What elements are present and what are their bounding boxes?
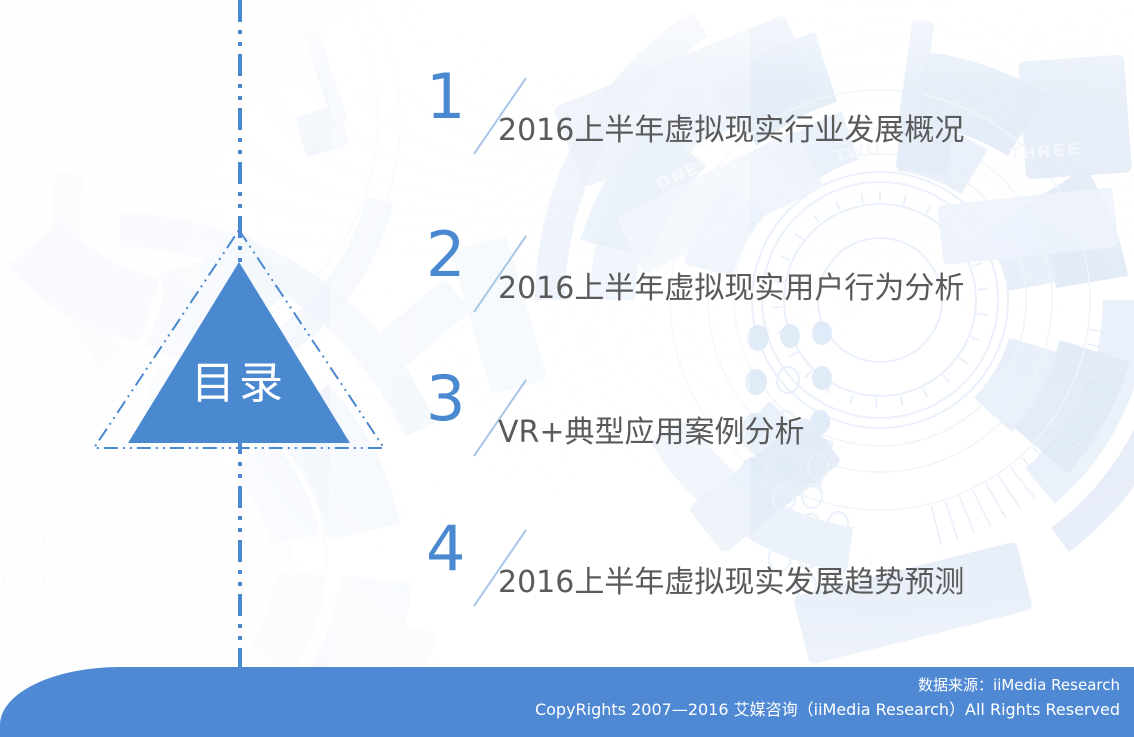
agenda-item-label: 2016上半年虚拟现实发展趋势预测: [498, 564, 964, 602]
agenda-item-number: 2: [426, 224, 465, 286]
agenda-item-number: 3: [426, 368, 465, 430]
triangle-fill: [128, 262, 350, 443]
footer-copyright: CopyRights 2007—2016 艾媒咨询（iiMedia Resear…: [535, 699, 1120, 721]
agenda-triangle-block: 目录: [88, 222, 390, 452]
agenda-item-number: 1: [426, 66, 465, 128]
footer-data-source: 数据来源：iiMedia Research: [918, 675, 1120, 695]
agenda-item-label: 2016上半年虚拟现实行业发展概况: [498, 112, 964, 150]
presentation-slide: ONE TWO THREE FOUR: [0, 0, 1134, 737]
agenda-item-label: 2016上半年虚拟现实用户行为分析: [498, 270, 964, 308]
agenda-item[interactable]: 3 VR+典型应用案例分析: [420, 368, 1120, 488]
agenda-item[interactable]: 1 2016上半年虚拟现实行业发展概况: [420, 66, 1120, 186]
agenda-item-label: VR+典型应用案例分析: [498, 414, 805, 452]
agenda-list: 1 2016上半年虚拟现实行业发展概况 2 2016上半年虚拟现实用户行为分析 …: [420, 66, 1120, 646]
triangle-graphic: [88, 222, 390, 452]
agenda-item-number: 4: [426, 518, 465, 580]
agenda-item[interactable]: 4 2016上半年虚拟现实发展趋势预测: [420, 518, 1120, 638]
agenda-triangle-label: 目录: [88, 362, 390, 406]
footer-bar: 数据来源：iiMedia Research CopyRights 2007—20…: [0, 667, 1134, 737]
agenda-item[interactable]: 2 2016上半年虚拟现实用户行为分析: [420, 224, 1120, 344]
